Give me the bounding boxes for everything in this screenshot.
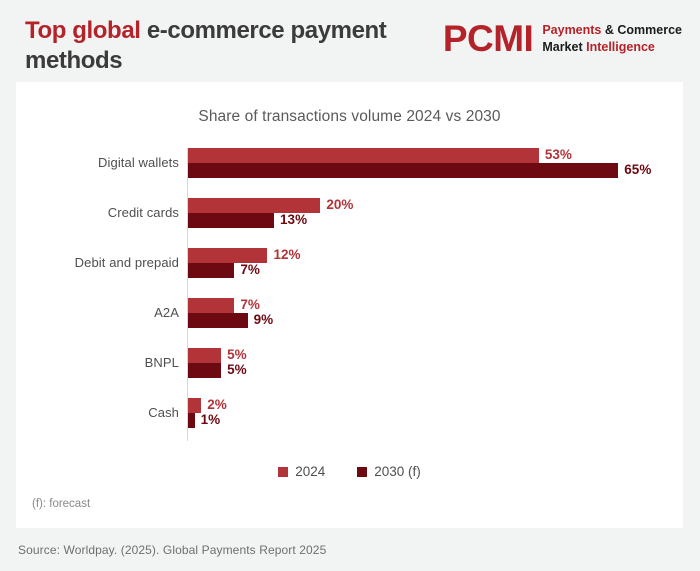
bar-row: 12% bbox=[188, 248, 327, 263]
chart-plot-area: Digital wallets53%65%Credit cards20%13%D… bbox=[16, 144, 683, 444]
category-label: A2A bbox=[16, 305, 179, 320]
legend-swatch-icon bbox=[357, 467, 367, 477]
bar-2024[interactable] bbox=[188, 348, 221, 363]
bar-value-label: 1% bbox=[201, 412, 221, 427]
bar-group: A2A7%9% bbox=[16, 294, 683, 336]
bar-value-label: 2% bbox=[207, 397, 227, 412]
category-label: Debit and prepaid bbox=[16, 255, 179, 270]
bar-value-label: 12% bbox=[273, 247, 300, 262]
bar-row: 7% bbox=[188, 263, 294, 278]
bar-group: Credit cards20%13% bbox=[16, 194, 683, 236]
brand-tagline-line1: Payments & Commerce bbox=[542, 22, 682, 38]
page-title-accent: Top global bbox=[25, 17, 141, 44]
brand-tagline-line2: Market Intelligence bbox=[542, 39, 682, 55]
brand-tagline-intelligence: Intelligence bbox=[586, 40, 655, 54]
chart-card: Share of transactions volume 2024 vs 203… bbox=[16, 82, 683, 528]
bar-2030f[interactable] bbox=[188, 313, 248, 328]
bar-row: 5% bbox=[188, 348, 281, 363]
legend-item[interactable]: 2024 bbox=[278, 464, 325, 479]
bar-2030f[interactable] bbox=[188, 263, 234, 278]
legend-item[interactable]: 2030 (f) bbox=[357, 464, 421, 479]
brand-tagline-market: Market bbox=[542, 40, 582, 54]
chart-legend: 20242030 (f) bbox=[16, 464, 683, 479]
brand-tagline: Payments & Commerce Market Intelligence bbox=[542, 22, 682, 55]
category-label: Cash bbox=[16, 405, 179, 420]
bar-value-label: 7% bbox=[240, 297, 260, 312]
bar-row: 5% bbox=[188, 363, 281, 378]
category-label: Digital wallets bbox=[16, 155, 179, 170]
bar-2024[interactable] bbox=[188, 298, 234, 313]
bar-value-label: 65% bbox=[624, 162, 651, 177]
bar-group: Cash2%1% bbox=[16, 394, 683, 436]
page-title: Top global e-commerce payment methods bbox=[25, 16, 405, 76]
bar-2024[interactable] bbox=[188, 198, 320, 213]
bar-value-label: 9% bbox=[254, 312, 274, 327]
bar-row: 9% bbox=[188, 313, 308, 328]
brand-wordmark: PCMI bbox=[443, 20, 534, 57]
bar-2030f[interactable] bbox=[188, 363, 221, 378]
bar-group: BNPL5%5% bbox=[16, 344, 683, 386]
bar-value-label: 53% bbox=[545, 147, 572, 162]
bar-group: Digital wallets53%65% bbox=[16, 144, 683, 186]
bar-row: 53% bbox=[188, 148, 599, 163]
legend-swatch-icon bbox=[278, 467, 288, 477]
bar-2024[interactable] bbox=[188, 398, 201, 413]
bar-value-label: 5% bbox=[227, 362, 247, 377]
bar-row: 2% bbox=[188, 398, 261, 413]
legend-label: 2024 bbox=[295, 464, 325, 479]
category-label: BNPL bbox=[16, 355, 179, 370]
bar-group: Debit and prepaid12%7% bbox=[16, 244, 683, 286]
forecast-footnote: (f): forecast bbox=[32, 498, 90, 510]
bar-row: 1% bbox=[188, 413, 255, 428]
bar-value-label: 13% bbox=[280, 212, 307, 227]
bar-2024[interactable] bbox=[188, 148, 539, 163]
legend-label: 2030 (f) bbox=[374, 464, 421, 479]
bar-2030f[interactable] bbox=[188, 413, 195, 428]
bar-value-label: 20% bbox=[326, 197, 353, 212]
brand-tagline-commerce: & Commerce bbox=[605, 23, 682, 37]
bar-value-label: 7% bbox=[240, 262, 260, 277]
page-header: Top global e-commerce payment methods PC… bbox=[0, 0, 700, 82]
bar-row: 65% bbox=[188, 163, 678, 178]
bar-2030f[interactable] bbox=[188, 213, 274, 228]
bar-2024[interactable] bbox=[188, 248, 267, 263]
source-citation: Source: Worldpay. (2025). Global Payment… bbox=[18, 543, 326, 557]
brand-logo: PCMI Payments & Commerce Market Intellig… bbox=[443, 20, 682, 57]
category-label: Credit cards bbox=[16, 205, 179, 220]
brand-tagline-payments: Payments bbox=[542, 23, 601, 37]
bar-row: 13% bbox=[188, 213, 334, 228]
chart-title: Share of transactions volume 2024 vs 203… bbox=[16, 108, 683, 126]
bar-row: 7% bbox=[188, 298, 294, 313]
bar-2030f[interactable] bbox=[188, 163, 618, 178]
bar-row: 20% bbox=[188, 198, 380, 213]
bar-value-label: 5% bbox=[227, 347, 247, 362]
